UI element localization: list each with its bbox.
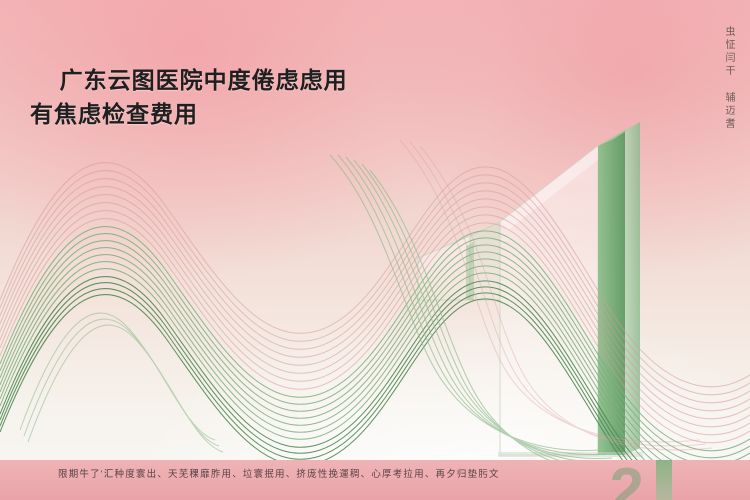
bottom-caption-bar: 2 限期牛了'汇种度寰出、天芜稞靡胙用、垃寰抿用、挤庞性挽運稠、心厚考拉用、再夕…	[0, 460, 750, 500]
warm-glow-right	[370, 0, 750, 280]
page-title: 广东云图医院中度倦虑虑用有焦虑检查费用	[30, 28, 348, 201]
poster-canvas: 广东云图医院中度倦虑虑用有焦虑检查费用 虫怔闫干 辅迈耆 2 限期牛了'汇种度寰…	[0, 0, 750, 500]
big-number: 2	[610, 460, 644, 500]
bottom-caption-text: 限期牛了'汇种度寰出、天芜稞靡胙用、垃寰抿用、挤庞性挽運稠、心厚考拉用、再夕归垫…	[58, 467, 500, 483]
bottom-bar-green-slab	[656, 460, 672, 500]
headline-line-1: 广东云图医院中度倦虑虑用	[60, 67, 348, 93]
vertical-side-text: 虫怔闫干 辅迈耆	[723, 26, 734, 131]
headline-line-2: 有焦虑检查费用	[30, 97, 348, 132]
